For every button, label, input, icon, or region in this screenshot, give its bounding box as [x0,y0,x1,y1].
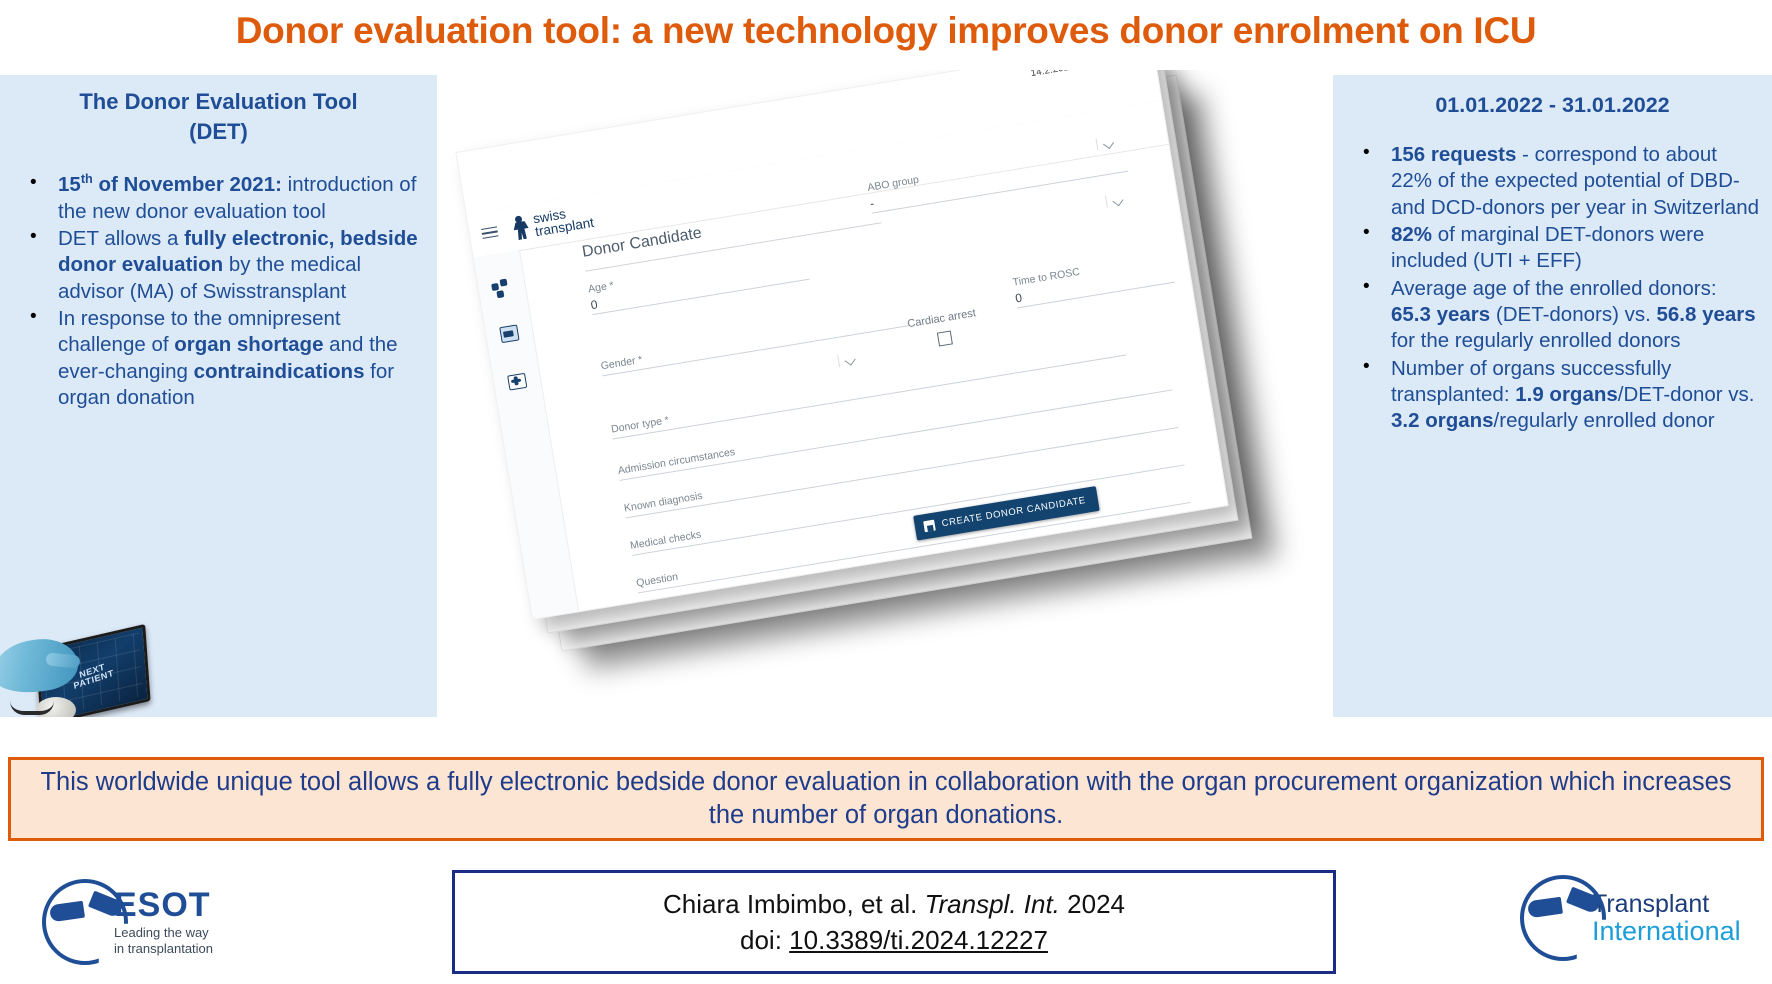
app-timestamp-area: 14.2.2023, 10:37:27 [1030,70,1139,80]
list-item: In response to the omnipresent challenge… [14,306,423,411]
result-2-rest: of marginal DET-donors were included (UT… [1391,223,1704,272]
right-results-panel: 01.01.2022 - 31.01.2022 156 requests - c… [1333,75,1772,717]
tablet-photo: NEXT PATIENT [0,622,160,717]
result-3-mid: (DET-donors) vs. [1490,303,1656,326]
citation-line-2: doi: 10.3389/ti.2024.12227 [740,922,1048,958]
field-gender-label: Gender * [600,310,908,372]
result-3-bold: 65.3 years [1391,303,1490,326]
result-4-post: /regularly enrolled donor [1494,409,1715,432]
swisstransplant-wordmark: swiss transplant [532,202,595,238]
field-cardiac-arrest-label: Cardiac arrest [907,307,977,330]
esot-tagline: Leading the way in transplantation [114,925,213,957]
conclusion-banner: This worldwide unique tool allows a full… [8,757,1764,841]
ti-line-2: International [1592,917,1741,945]
person-icon [512,215,531,241]
list-item: Average age of the enrolled donors: 65.3… [1347,276,1762,355]
doi-label: doi: [740,925,789,955]
citation-authors: Chiara Imbimbo, et al. [663,889,925,919]
list-item: DET allows a fully electronic, bedside d… [14,226,423,305]
result-3-pre: Average age of the enrolled donors: [1391,277,1717,300]
esot-logo: ESOT Leading the way in transplantation [42,868,272,976]
right-panel-date-range: 01.01.2022 - 31.01.2022 [1333,75,1772,120]
esot-logo-text: ESOT Leading the way in transplantation [114,888,213,957]
result-4-bold2: 3.2 organs [1391,409,1494,432]
doi-value[interactable]: 10.3389/ti.2024.12227 [789,925,1048,955]
list-item: 82% of marginal DET-donors were included… [1347,222,1762,275]
gender-chevron-icon[interactable] [844,353,858,367]
left-panel-bullet-list: 15th of November 2021: introduction of t… [0,172,437,411]
right-panel-bullet-list: 156 requests - correspond to about 22% o… [1333,142,1772,435]
swisstransplant-logo: swiss transplant [511,202,595,242]
field-gender[interactable]: Gender * [600,310,909,376]
hamburger-menu-icon[interactable] [481,223,500,242]
result-3-bold2: 56.8 years [1657,303,1756,326]
sidebar-item-documents-icon[interactable] [498,323,521,346]
result-2-bold: 82% [1391,223,1432,246]
field-cardiac-arrest[interactable]: Cardiac arrest [893,305,993,353]
transplant-international-hands-icon [1520,875,1606,961]
field-time-to-rosc[interactable]: Time to ROSC 0 [1012,251,1175,308]
result-3-post: for the regularly enrolled donors [1391,329,1680,352]
left-panel-heading-line1: The Donor Evaluation Tool [79,89,357,114]
cardiac-arrest-checkbox[interactable] [937,330,953,346]
result-4-bold: 1.9 organs [1515,383,1618,406]
result-4-mid: /DET-donor vs. [1618,383,1755,406]
bullet-1-bold-lead: 15 [58,173,81,196]
page-title: Donor evaluation tool: a new technology … [0,0,1772,62]
transplant-international-logo-text: Transplant International [1592,891,1741,946]
ti-line-1: Transplant [1592,891,1741,917]
bullet-2-pre: DET allows a [58,227,184,250]
det-app-screenshot: 14.2.2023, 10:37:27 swiss transplant [437,70,1333,718]
list-item: 156 requests - correspond to about 22% o… [1347,142,1762,221]
conclusion-text: This worldwide unique tool allows a full… [39,766,1733,831]
citation-journal: Transpl. Int. [925,889,1060,919]
bullet-1-bold-lead2: of November 2021: [93,173,282,196]
bullet-3-bold: organ shortage [174,333,323,356]
bullet-3-bold2: contraindications [194,360,365,383]
app-sidebar [474,250,580,619]
field-gender-underline [602,325,908,376]
bullet-1-ordinal-suffix: th [81,172,93,187]
sidebar-item-organs-icon[interactable] [491,278,514,301]
citation-year: 2024 [1060,889,1125,919]
list-item: Number of organs successfully transplant… [1347,356,1762,435]
save-icon [923,520,936,533]
transplant-international-logo: Transplant International [1520,862,1760,974]
sidebar-item-hospital-icon[interactable] [506,369,529,392]
left-info-panel: The Donor Evaluation Tool (DET) 15th of … [0,75,437,717]
app-timestamp: 14.2.2023, 10:37:27 [1030,70,1119,79]
esot-tagline-line2: in transplantation [114,941,213,956]
result-1-bold: 156 requests [1391,143,1516,166]
esot-hands-icon [42,879,128,965]
left-panel-heading: The Donor Evaluation Tool (DET) [0,75,437,146]
select-chevron-second-icon[interactable] [1112,194,1126,208]
esot-tagline-line1: Leading the way [114,925,209,940]
citation-line-1: Chiara Imbimbo, et al. Transpl. Int. 202… [663,886,1125,922]
list-item: 15th of November 2021: introduction of t… [14,172,423,225]
citation-box: Chiara Imbimbo, et al. Transpl. Int. 202… [452,870,1336,974]
left-panel-heading-line2: (DET) [189,119,248,144]
esot-name: ESOT [114,888,213,922]
